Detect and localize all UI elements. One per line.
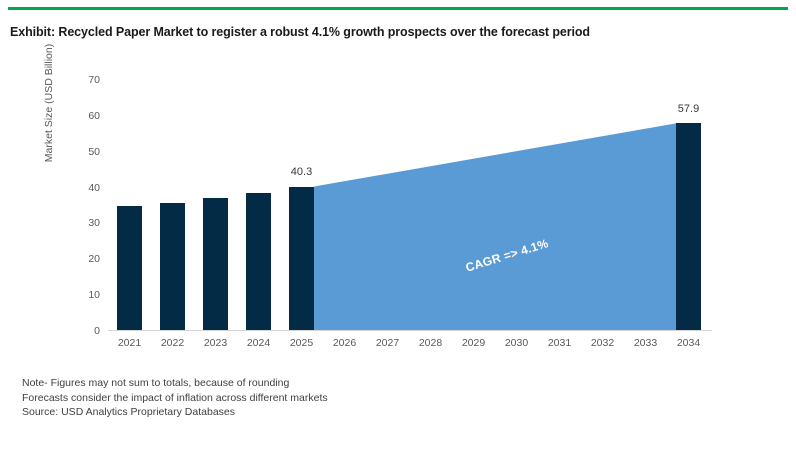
x-axis-baseline	[108, 330, 712, 331]
y-axis-tick-label: 70	[72, 74, 100, 86]
x-axis-tick-label: 2021	[118, 337, 141, 349]
footnote-line-2: Forecasts consider the impact of inflati…	[22, 391, 328, 406]
chart-bar	[676, 123, 701, 331]
x-axis-tick-label: 2026	[333, 337, 356, 349]
bar-value-label: 57.9	[678, 103, 699, 115]
page-title: Exhibit: Recycled Paper Market to regist…	[10, 25, 770, 39]
footnote-line-1: Note- Figures may not sum to totals, bec…	[22, 376, 328, 391]
x-axis-tick-label: 2027	[376, 337, 399, 349]
forecast-area-band	[108, 80, 710, 331]
y-axis-tick-label: 0	[72, 325, 100, 337]
x-axis-tick-label: 2033	[634, 337, 657, 349]
y-axis-tick-label: 40	[72, 182, 100, 194]
y-axis-tick-label: 10	[72, 289, 100, 301]
bar-value-label: 40.3	[291, 166, 312, 178]
y-axis-tick-label: 60	[72, 110, 100, 122]
x-axis-tick-label: 2023	[204, 337, 227, 349]
y-axis-tick-label: 50	[72, 146, 100, 158]
x-axis-tick-label: 2028	[419, 337, 442, 349]
y-axis-title: Market Size (USD Billion)	[43, 13, 55, 193]
chart-plot-area: 40.357.9 CAGR => 4.1%	[108, 80, 710, 331]
x-axis-ticks: 2021202220232024202520262027202820292030…	[108, 337, 710, 353]
x-axis-tick-label: 2025	[290, 337, 313, 349]
chart-bar	[289, 187, 314, 332]
x-axis-tick-label: 2031	[548, 337, 571, 349]
x-axis-tick-label: 2030	[505, 337, 528, 349]
y-axis-tick-label: 20	[72, 253, 100, 265]
chart-bar	[117, 206, 142, 332]
y-axis-tick-label: 30	[72, 217, 100, 229]
header-accent-rule	[8, 7, 788, 10]
x-axis-tick-label: 2032	[591, 337, 614, 349]
chart-bar	[246, 193, 271, 331]
footnote-line-3: Source: USD Analytics Proprietary Databa…	[22, 405, 328, 420]
x-axis-tick-label: 2024	[247, 337, 270, 349]
chart-bar	[160, 203, 185, 331]
chart-bar	[203, 198, 228, 331]
x-axis-tick-label: 2029	[462, 337, 485, 349]
footnotes: Note- Figures may not sum to totals, bec…	[22, 376, 328, 420]
x-axis-tick-label: 2034	[677, 337, 700, 349]
x-axis-tick-label: 2022	[161, 337, 184, 349]
